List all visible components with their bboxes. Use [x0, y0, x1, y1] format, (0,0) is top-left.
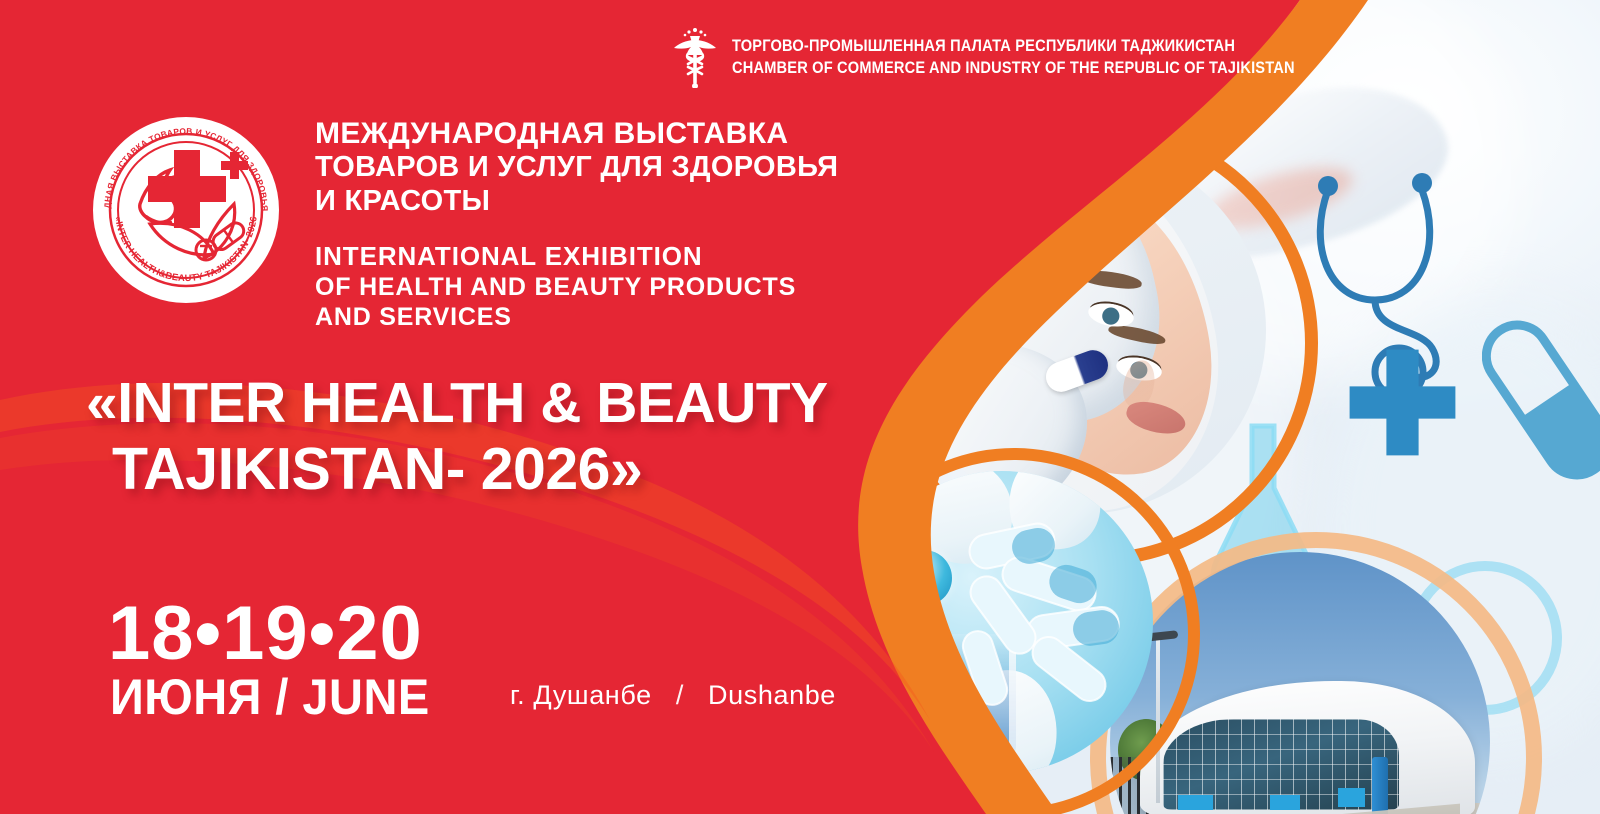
inter-health-beauty-emblem-icon: МЕЖДУНАРОДНАЯ ВЫСТАВКА ТОВАРОВ И УСЛУГ Д…: [88, 112, 284, 308]
chamber-of-commerce-lockup: ТОРГОВО-ПРОМЫШЛЕННАЯ ПАЛАТА РЕСПУБЛИКИ Т…: [672, 26, 1386, 88]
chamber-line-en: CHAMBER OF COMMERCE AND INDUSTRY OF THE …: [732, 57, 1295, 79]
pharma-photo-ring: [828, 448, 1200, 814]
location-ru: г. Душанбе: [510, 680, 652, 710]
location-separator: /: [660, 680, 700, 710]
event-title-line2: TAJIKISTAN- 2026»: [86, 436, 906, 502]
heading-en-line2: OF HEALTH AND BEAUTY PRODUCTS: [315, 272, 838, 302]
heading-en-line1: INTERNATIONAL EXHIBITION: [315, 241, 838, 272]
exhibition-banner: ТОРГОВО-ПРОМЫШЛЕННАЯ ПАЛАТА РЕСПУБЛИКИ Т…: [0, 0, 1600, 814]
event-dates: 18•19•20: [108, 596, 423, 672]
heading-ru-line2: ТОВАРОВ И УСЛУГ ДЛЯ ЗДОРОВЬЯ: [315, 151, 838, 185]
event-month: ИЮНЯ / JUNE: [110, 672, 430, 722]
capsule-pill-icon: [1482, 310, 1600, 490]
event-title: «INTER HEALTH & BEAUTY TAJIKISTAN- 2026»: [86, 372, 906, 502]
event-location: г. Душанбе / Dushanbe: [510, 680, 836, 711]
chamber-line-ru: ТОРГОВО-ПРОМЫШЛЕННАЯ ПАЛАТА РЕСПУБЛИКИ Т…: [732, 35, 1295, 57]
location-en: Dushanbe: [708, 680, 836, 710]
heading-ru-line1: МЕЖДУНАРОДНАЯ ВЫСТАВКА: [315, 116, 838, 151]
heading-ru-line3: И КРАСОТЫ: [315, 185, 838, 219]
chamber-text-block: ТОРГОВО-ПРОМЫШЛЕННАЯ ПАЛАТА РЕСПУБЛИКИ Т…: [732, 35, 1386, 79]
heading-spacer: [315, 219, 838, 241]
heading-en-line3: AND SERVICES: [315, 302, 838, 332]
medical-cross-icon: [1345, 345, 1460, 460]
caduceus-emblem-icon: [672, 26, 718, 88]
event-title-line1: «INTER HEALTH & BEAUTY: [86, 372, 906, 436]
heading-block: МЕЖДУНАРОДНАЯ ВЫСТАВКА ТОВАРОВ И УСЛУГ Д…: [315, 116, 838, 332]
